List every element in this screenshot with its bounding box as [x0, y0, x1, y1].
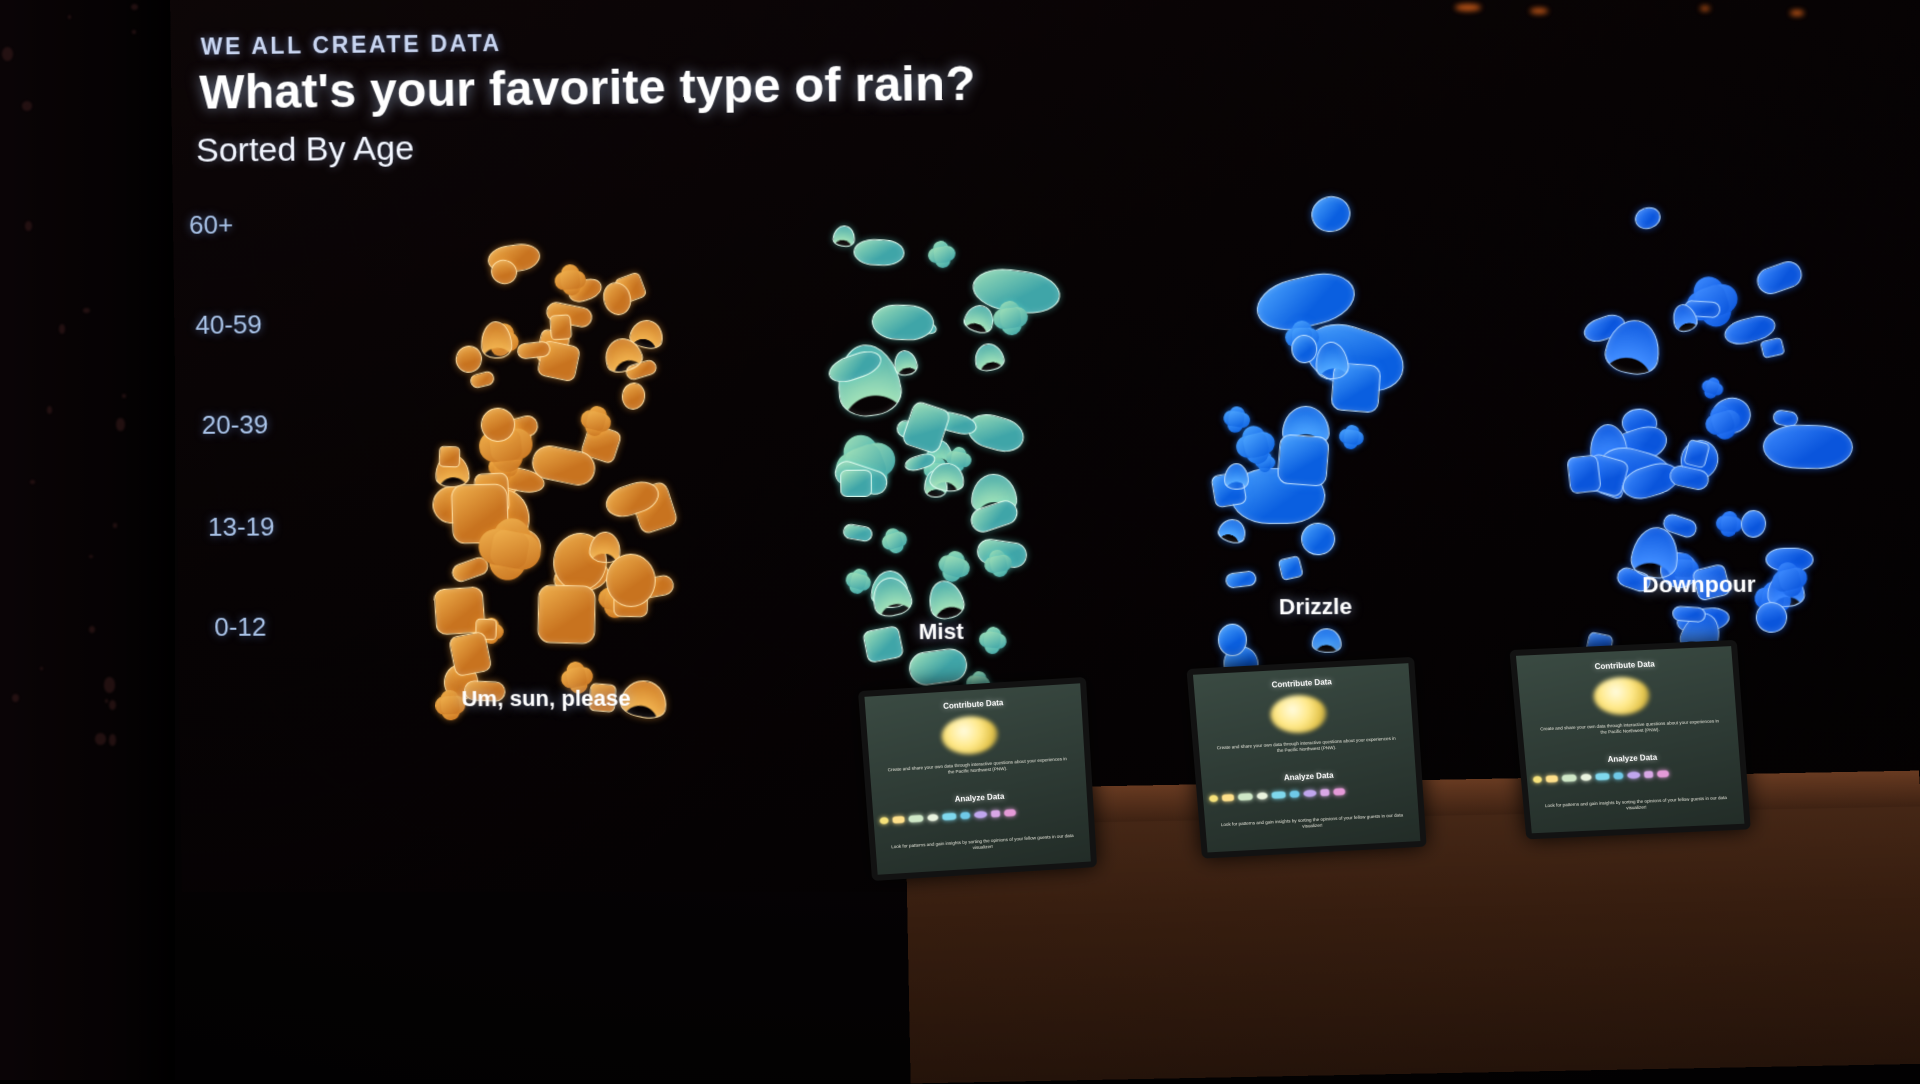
response-glyph[interactable]: [606, 554, 656, 607]
response-glyph[interactable]: [1714, 510, 1743, 539]
kiosk-glyph-chip: [1595, 773, 1609, 780]
kiosk-glyph-chip: [942, 813, 956, 821]
chart-column-mist[interactable]: Mist: [767, 157, 1111, 725]
wall-texture-speck: [40, 667, 44, 670]
axis-tick-20-39: 20-39: [201, 409, 268, 440]
wall-texture-speck: [105, 699, 108, 702]
kiosk-analyze-body: Look for patterns and gain insights by s…: [890, 833, 1074, 857]
response-glyph[interactable]: [840, 470, 871, 497]
response-glyph[interactable]: [879, 525, 911, 557]
kiosk-contribute-body: Create and share your own data through i…: [1537, 718, 1722, 739]
response-glyph[interactable]: [1672, 606, 1706, 624]
kiosk-contribute-title: Contribute Data: [1194, 673, 1410, 694]
response-glyph[interactable]: [1312, 627, 1343, 653]
kiosk-glyph-strip: [879, 809, 1016, 824]
response-glyph[interactable]: [1567, 454, 1603, 494]
age-axis: 60+40-5920-3913-190-12: [182, 180, 389, 702]
exhibit-room: WE ALL CREATE DATA What's your favorite …: [0, 0, 1920, 1080]
chart-column-sun[interactable]: Um, sun, please: [373, 161, 714, 726]
kiosk-contribute-title: Contribute Data: [1517, 656, 1733, 675]
wall-texture-speck: [22, 101, 32, 110]
kiosk-glyph-chip: [1533, 776, 1543, 783]
kiosk-glyph-chip: [1238, 793, 1253, 801]
response-glyph[interactable]: [832, 224, 856, 248]
glyph-cluster-drizzle: [1140, 153, 1488, 724]
response-glyph[interactable]: [1225, 570, 1257, 588]
response-glyph[interactable]: [474, 513, 547, 586]
glyph-cluster-downpour: [1522, 149, 1874, 723]
kiosk-glyph-chip: [1257, 792, 1268, 799]
response-glyph[interactable]: [1218, 623, 1247, 656]
axis-tick-60-: 60+: [189, 209, 234, 240]
chart-column-downpour[interactable]: Downpour: [1522, 149, 1874, 723]
kiosk-glyph-chip: [1627, 771, 1640, 778]
response-glyph[interactable]: [1337, 423, 1365, 451]
response-glyph[interactable]: [621, 381, 648, 411]
kiosk-tablet-3[interactable]: Contribute DataCreate and share your own…: [1509, 640, 1750, 840]
column-label-mist: Mist: [773, 618, 1110, 646]
left-wall: [0, 0, 175, 1080]
sun-glyph-icon: [940, 715, 999, 756]
column-label-downpour: Downpour: [1527, 571, 1871, 599]
kiosk-bench: Contribute DataCreate and share your own…: [905, 771, 1920, 1084]
kiosk-glyph-chip: [1580, 774, 1592, 781]
response-glyph[interactable]: [842, 523, 874, 543]
kiosk-glyph-chip: [1546, 775, 1559, 782]
kiosk-contribute-body: Create and share your own data through i…: [1214, 736, 1399, 758]
response-glyph[interactable]: [438, 446, 460, 468]
kiosk-glyph-chip: [1657, 770, 1669, 777]
chart-column-drizzle[interactable]: Drizzle: [1140, 153, 1488, 724]
column-label-drizzle: Drizzle: [1145, 593, 1486, 621]
response-glyph[interactable]: [891, 348, 919, 377]
wall-texture-speck: [104, 677, 115, 692]
wall-texture-speck: [47, 406, 52, 413]
kiosk-tablet-1[interactable]: Contribute DataCreate and share your own…: [858, 677, 1097, 881]
response-glyph[interactable]: [1277, 555, 1303, 581]
column-label-sun: Um, sun, please: [380, 685, 714, 712]
sun-glyph-icon: [1269, 694, 1328, 735]
response-glyph[interactable]: [1298, 520, 1338, 559]
kiosk-analyze-body: Look for patterns and gain insights by s…: [1220, 812, 1404, 834]
kiosk-glyph-chip: [879, 817, 888, 824]
response-glyph[interactable]: [549, 314, 572, 340]
kiosk-glyph-chip: [960, 812, 970, 820]
kiosk-glyph-chip: [1303, 790, 1316, 798]
kiosk-analyze-title: Analyze Data: [1201, 766, 1416, 786]
kiosk-glyph-chip: [927, 814, 938, 822]
kiosk-contribute-title: Contribute Data: [865, 693, 1081, 715]
kiosk-analyze-title: Analyze Data: [1525, 749, 1739, 767]
response-glyph[interactable]: [1753, 258, 1805, 298]
glyph-cluster-sun: [373, 161, 714, 726]
rail-lamp-glow: [1455, 4, 1481, 11]
kiosk-contribute-body: Create and share your own data through i…: [885, 756, 1070, 780]
kiosk-glyph-chip: [1271, 791, 1285, 799]
kiosk-glyph-chip: [908, 815, 923, 823]
axis-tick-13-19: 13-19: [208, 511, 275, 542]
response-glyph[interactable]: [842, 565, 873, 596]
kiosk-glyph-chip: [1289, 790, 1299, 797]
kiosk-screen-1[interactable]: Contribute DataCreate and share your own…: [864, 683, 1090, 874]
kiosk-glyph-chip: [991, 810, 1000, 817]
response-glyph[interactable]: [1740, 510, 1767, 539]
wall-texture-speck: [89, 555, 93, 558]
kiosk-analyze-body: Look for patterns and gain insights by s…: [1544, 795, 1728, 815]
kiosk-glyph-chip: [892, 816, 904, 824]
kiosk-glyph-chip: [974, 811, 987, 819]
response-glyph[interactable]: [991, 299, 1030, 338]
wall-texture-speck: [116, 418, 125, 432]
response-glyph[interactable]: [1216, 515, 1249, 545]
wall-texture-speck: [95, 733, 106, 745]
axis-tick-0-12: 0-12: [214, 612, 267, 643]
response-glyph[interactable]: [871, 303, 935, 341]
kiosk-glyph-chip: [1644, 771, 1653, 778]
response-glyph[interactable]: [468, 370, 495, 390]
kiosk-glyph-strip: [1209, 788, 1346, 802]
rail-lamp-glow: [1790, 10, 1804, 16]
kiosk-glyph-chip: [1209, 795, 1218, 802]
sun-glyph-icon: [1592, 676, 1651, 716]
page-title: What's your favorite type of rain?: [199, 56, 976, 120]
response-glyph[interactable]: [853, 238, 905, 266]
wall-texture-speck: [68, 15, 71, 19]
kiosk-glyph-chip: [1004, 809, 1016, 817]
response-glyph[interactable]: [1699, 375, 1726, 402]
kiosk-screen-3[interactable]: Contribute DataCreate and share your own…: [1516, 646, 1744, 833]
wall-texture-speck: [89, 626, 95, 633]
axis-tick-40-59: 40-59: [195, 309, 262, 341]
wall-texture-speck: [25, 221, 32, 230]
response-glyph[interactable]: [1277, 434, 1330, 487]
kiosk-glyph-chip: [1320, 789, 1329, 796]
response-glyph[interactable]: [926, 239, 958, 270]
response-glyph[interactable]: [981, 547, 1014, 579]
rail-lamp-glow: [1700, 6, 1710, 11]
wall-texture-speck: [2, 47, 13, 61]
response-glyph[interactable]: [972, 341, 1007, 374]
response-glyph[interactable]: [1307, 191, 1355, 236]
response-glyph[interactable]: [553, 263, 588, 297]
kiosk-glyph-chip: [1561, 774, 1576, 782]
kiosk-analyze-title: Analyze Data: [872, 787, 1087, 809]
eyebrow-kicker: WE ALL CREATE DATA: [201, 30, 502, 61]
kiosk-glyph-strip: [1533, 770, 1670, 783]
kiosk-glyph-chip: [1222, 794, 1234, 802]
kiosk-glyph-chip: [1613, 772, 1623, 779]
response-glyph[interactable]: [537, 585, 596, 645]
kiosk-screen-2[interactable]: Contribute DataCreate and share your own…: [1193, 663, 1420, 852]
response-glyph[interactable]: [1224, 463, 1248, 489]
response-glyph[interactable]: [1763, 425, 1853, 470]
response-glyph[interactable]: [1760, 337, 1785, 359]
rail-lamp-glow: [1530, 8, 1548, 14]
kiosk-tablet-2[interactable]: Contribute DataCreate and share your own…: [1186, 657, 1426, 859]
wall-texture-speck: [132, 30, 136, 33]
kiosk-glyph-chip: [1333, 788, 1345, 796]
wall-texture-speck: [122, 394, 126, 398]
response-glyph[interactable]: [1632, 204, 1663, 232]
